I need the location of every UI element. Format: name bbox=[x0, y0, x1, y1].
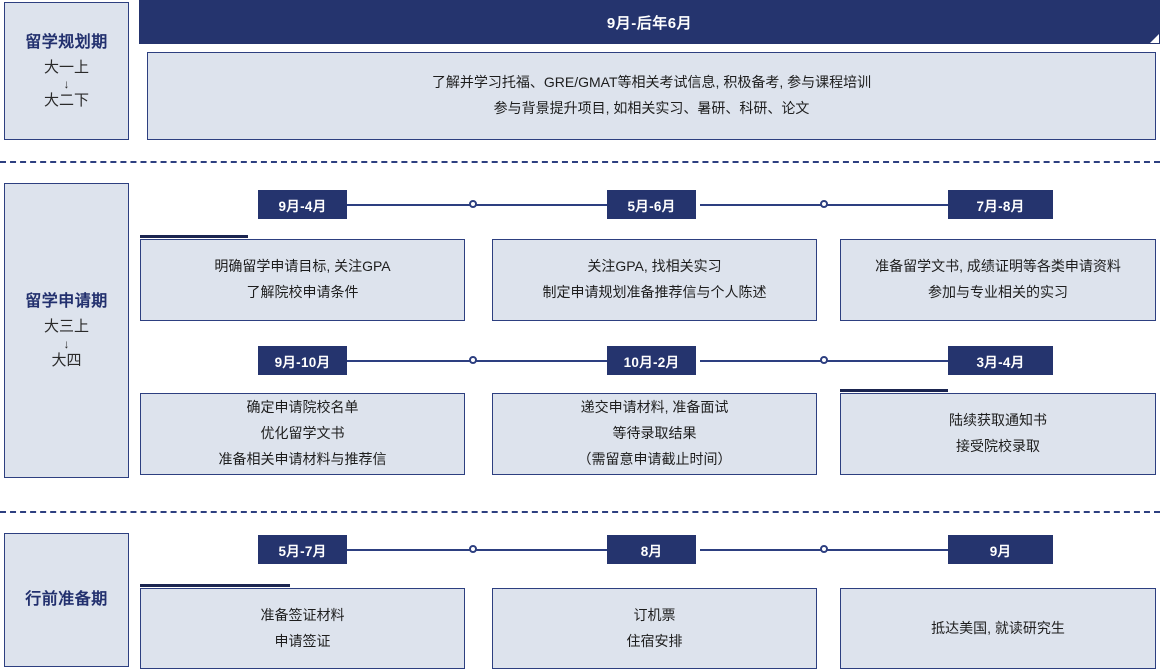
section-separator bbox=[0, 511, 1160, 513]
box-accent-line bbox=[840, 389, 948, 392]
date-chip-label: 9月-10月 bbox=[275, 351, 331, 371]
content-box: 订机票 住宿安排 bbox=[492, 588, 817, 669]
date-chip[interactable]: 5月-7月 bbox=[258, 535, 347, 564]
content-line: 准备签证材料 bbox=[261, 603, 345, 629]
timeline-banner-label: 9月-后年6月 bbox=[607, 12, 692, 33]
box-accent-line bbox=[140, 235, 248, 238]
date-chip[interactable]: 9月 bbox=[948, 535, 1053, 564]
arrow-down-icon: ↓ bbox=[64, 338, 70, 351]
box-accent-line bbox=[140, 584, 290, 587]
date-chip-label: 9月 bbox=[990, 540, 1012, 560]
content-line: 关注GPA, 找相关实习 bbox=[587, 254, 721, 280]
content-line: 住宿安排 bbox=[627, 629, 683, 655]
content-line: 申请签证 bbox=[275, 629, 331, 655]
content-box: 递交申请材料, 准备面试 等待录取结果 （需留意申请截止时间） bbox=[492, 393, 817, 475]
stage-label-application: 留学申请期 大三上 ↓ 大四 bbox=[4, 183, 129, 478]
content-line: 等待录取结果 bbox=[613, 421, 697, 447]
content-line: 订机票 bbox=[634, 603, 676, 629]
stage-name-predeparture: 行前准备期 bbox=[25, 588, 108, 611]
section-separator bbox=[0, 161, 1160, 163]
summary-box-planning: 了解并学习托福、GRE/GMAT等相关考试信息, 积极备考, 参与课程培训 参与… bbox=[147, 52, 1156, 140]
stage-from-planning: 大一上 bbox=[44, 58, 89, 78]
content-line: 抵达美国, 就读研究生 bbox=[931, 616, 1065, 642]
content-line: 递交申请材料, 准备面试 bbox=[581, 395, 729, 421]
timeline-node bbox=[820, 545, 828, 553]
date-chip[interactable]: 3月-4月 bbox=[948, 346, 1053, 375]
date-chip[interactable]: 5月-6月 bbox=[607, 190, 696, 219]
timeline-node bbox=[820, 356, 828, 364]
timeline-banner: 9月-后年6月 bbox=[139, 0, 1160, 44]
stage-name-planning: 留学规划期 bbox=[25, 31, 108, 54]
date-chip-label: 9月-4月 bbox=[278, 195, 326, 215]
stage-label-predeparture: 行前准备期 bbox=[4, 533, 129, 667]
date-chip[interactable]: 8月 bbox=[607, 535, 696, 564]
content-line: 陆续获取通知书 bbox=[949, 408, 1047, 434]
summary-line: 了解并学习托福、GRE/GMAT等相关考试信息, 积极备考, 参与课程培训 bbox=[432, 70, 871, 96]
stage-from-application: 大三上 bbox=[44, 317, 89, 337]
content-line: 接受院校录取 bbox=[956, 434, 1040, 460]
date-chip-label: 3月-4月 bbox=[976, 351, 1024, 371]
stage-to-planning: 大二下 bbox=[44, 91, 89, 111]
content-line: 明确留学申请目标, 关注GPA bbox=[214, 254, 390, 280]
content-box: 明确留学申请目标, 关注GPA 了解院校申请条件 bbox=[140, 239, 465, 321]
timeline-node bbox=[820, 200, 828, 208]
date-chip-label: 10月-2月 bbox=[624, 351, 680, 371]
content-line: 准备留学文书, 成绩证明等各类申请资料 bbox=[875, 254, 1121, 280]
content-line: 参加与专业相关的实习 bbox=[928, 280, 1068, 306]
date-chip-label: 5月-6月 bbox=[627, 195, 675, 215]
date-chip-label: 5月-7月 bbox=[278, 540, 326, 560]
content-box: 抵达美国, 就读研究生 bbox=[840, 588, 1156, 669]
study-abroad-timeline-diagram: 留学规划期 大一上 ↓ 大二下 9月-后年6月 了解并学习托福、GRE/GMAT… bbox=[0, 0, 1160, 669]
timeline-connector bbox=[345, 549, 610, 551]
page-fold-icon bbox=[1150, 34, 1159, 43]
date-chip[interactable]: 9月-4月 bbox=[258, 190, 347, 219]
content-box: 准备签证材料 申请签证 bbox=[140, 588, 465, 669]
stage-name-application: 留学申请期 bbox=[25, 290, 108, 313]
content-box: 准备留学文书, 成绩证明等各类申请资料 参加与专业相关的实习 bbox=[840, 239, 1156, 321]
date-chip[interactable]: 7月-8月 bbox=[948, 190, 1053, 219]
timeline-node bbox=[469, 356, 477, 364]
timeline-connector bbox=[345, 204, 650, 206]
date-chip-label: 8月 bbox=[641, 540, 663, 560]
content-line: 优化留学文书 bbox=[261, 421, 345, 447]
date-chip[interactable]: 9月-10月 bbox=[258, 346, 347, 375]
timeline-node bbox=[469, 545, 477, 553]
summary-line: 参与背景提升项目, 如相关实习、暑研、科研、论文 bbox=[494, 96, 810, 122]
content-line: 确定申请院校名单 bbox=[247, 395, 359, 421]
date-chip[interactable]: 10月-2月 bbox=[607, 346, 696, 375]
content-box: 关注GPA, 找相关实习 制定申请规划准备推荐信与个人陈述 bbox=[492, 239, 817, 321]
content-line: 了解院校申请条件 bbox=[247, 280, 359, 306]
content-box: 确定申请院校名单 优化留学文书 准备相关申请材料与推荐信 bbox=[140, 393, 465, 475]
content-box: 陆续获取通知书 接受院校录取 bbox=[840, 393, 1156, 475]
timeline-connector bbox=[345, 360, 610, 362]
stage-label-planning: 留学规划期 大一上 ↓ 大二下 bbox=[4, 2, 129, 140]
content-line: 制定申请规划准备推荐信与个人陈述 bbox=[543, 280, 767, 306]
arrow-down-icon: ↓ bbox=[64, 78, 70, 91]
content-line: （需留意申请截止时间） bbox=[578, 447, 732, 473]
content-line: 准备相关申请材料与推荐信 bbox=[219, 447, 387, 473]
stage-to-application: 大四 bbox=[51, 351, 81, 371]
timeline-node bbox=[469, 200, 477, 208]
date-chip-label: 7月-8月 bbox=[976, 195, 1024, 215]
